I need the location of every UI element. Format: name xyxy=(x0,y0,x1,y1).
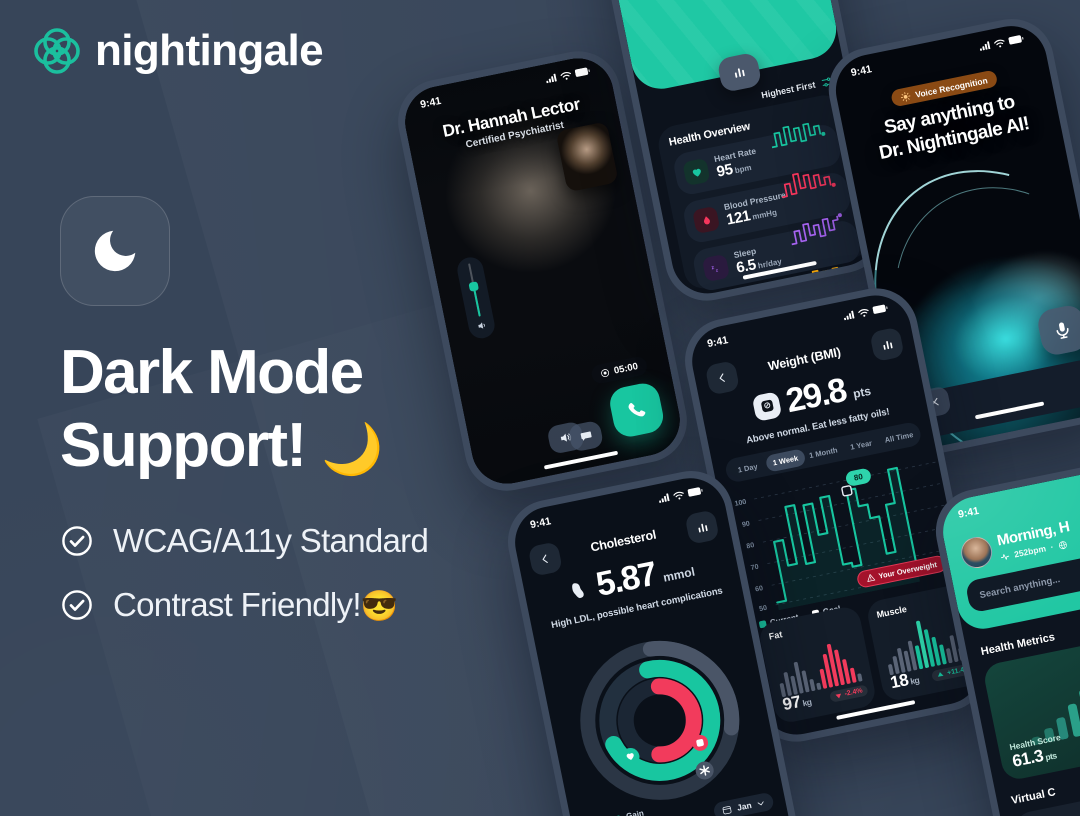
status-icons xyxy=(545,66,591,84)
sunglasses-emoji: 😎 xyxy=(361,590,398,623)
cholesterol-ring-chart xyxy=(563,624,756,816)
battery-icon xyxy=(872,304,888,315)
moon-icon xyxy=(88,224,142,278)
svg-text:80: 80 xyxy=(746,542,755,550)
cholesterol-value: 5.87 xyxy=(593,555,659,605)
score-unit: pts xyxy=(1044,750,1057,762)
microphone-icon xyxy=(1051,318,1075,342)
month-label: Jan xyxy=(736,800,752,813)
metric-unit: mmHg xyxy=(751,208,777,222)
wifi-icon xyxy=(560,70,573,81)
list-item: Contrast Friendly!😎 xyxy=(60,586,428,624)
status-time: 9:41 xyxy=(706,334,729,350)
blood-drop-icon xyxy=(692,206,720,234)
status-time: 9:41 xyxy=(529,515,552,531)
tab-1-week[interactable]: 1 Week xyxy=(765,448,806,472)
badge-label: Voice Recognition xyxy=(914,75,988,99)
metric-unit: bpm xyxy=(734,163,752,175)
status-icons xyxy=(979,34,1025,52)
moon-emoji: 🌙 xyxy=(321,421,383,477)
battery-icon xyxy=(687,486,703,497)
calendar-icon xyxy=(721,804,733,816)
kidney-icon xyxy=(566,576,592,602)
search-placeholder: Search anything... xyxy=(979,574,1061,601)
arrow-up-icon xyxy=(937,671,945,679)
message-icon xyxy=(578,429,593,444)
screen-home-metrics: 9:41 Morning, H 252bpm · Search anything… xyxy=(937,462,1080,816)
clover-cross-icon xyxy=(32,26,82,76)
card-value: 18kg xyxy=(889,668,921,693)
svg-text:60: 60 xyxy=(755,585,764,593)
muscle-unit: kg xyxy=(909,675,920,687)
status-icons xyxy=(843,303,889,321)
headline-line-2: Support! xyxy=(60,411,305,480)
call-timer-value: 05:00 xyxy=(613,361,639,377)
fat-card[interactable]: Fat xyxy=(757,605,877,725)
signal-icon xyxy=(843,310,855,320)
muscle-value: 18 xyxy=(889,670,910,692)
pulse-icon xyxy=(1000,551,1011,562)
dot-separator: · xyxy=(1050,542,1055,552)
svg-text:50: 50 xyxy=(759,605,768,613)
svg-text:100: 100 xyxy=(734,499,747,508)
feature-label-text: Contrast Friendly! xyxy=(113,586,361,623)
wifi-icon xyxy=(993,38,1006,49)
sparkle-icon xyxy=(900,90,912,102)
dark-mode-tile xyxy=(60,196,170,306)
heart-icon xyxy=(682,158,710,186)
battery-icon xyxy=(1008,34,1024,45)
check-circle-icon xyxy=(60,524,94,558)
fat-delta-value: -2.4% xyxy=(844,687,863,698)
tab-1-day[interactable]: 1 Day xyxy=(727,456,768,480)
headline-line-1: Dark Mode xyxy=(60,338,363,407)
status-time: 9:41 xyxy=(957,505,980,521)
tab-1-year[interactable]: 1 Year xyxy=(840,432,881,456)
metric-value: 95 xyxy=(715,161,734,181)
tab-all-time[interactable]: All Time xyxy=(878,425,919,449)
feature-label: Contrast Friendly!😎 xyxy=(113,586,397,624)
svg-text:90: 90 xyxy=(741,520,750,528)
section-title: Virtual C xyxy=(1010,786,1057,807)
metric-value: 121 xyxy=(725,207,752,228)
phone-icon xyxy=(624,397,650,423)
metric-label: Calorie xyxy=(743,288,797,300)
signal-icon xyxy=(979,41,991,51)
feature-list: WCAG/A11y Standard Contrast Friendly!😎 xyxy=(60,522,428,624)
svg-text:z: z xyxy=(710,264,714,270)
warning-triangle-icon xyxy=(865,573,876,584)
fat-unit: kg xyxy=(802,697,813,709)
feature-label: WCAG/A11y Standard xyxy=(113,522,428,560)
bar-chart-icon xyxy=(731,64,748,81)
month-selector[interactable]: Jan xyxy=(713,792,775,816)
list-item: WCAG/A11y Standard xyxy=(60,522,428,560)
tooltip-value: 80 xyxy=(853,472,864,483)
chevron-down-icon xyxy=(755,798,766,809)
fat-value: 97 xyxy=(781,692,802,714)
svg-text:70: 70 xyxy=(750,564,759,572)
wifi-icon xyxy=(672,490,685,501)
battery-icon xyxy=(574,67,590,78)
globe-icon xyxy=(1057,539,1068,550)
svg-text:z: z xyxy=(715,267,718,272)
cholesterol-unit: mmol xyxy=(662,565,696,585)
status-icons xyxy=(658,486,704,504)
page-title: Dark Mode Support! 🌙 xyxy=(60,336,500,482)
card-value: 97kg xyxy=(781,690,813,715)
home-indicator xyxy=(975,402,1044,420)
brand-lockup: nightingale xyxy=(32,26,323,76)
check-circle-icon xyxy=(60,588,94,622)
signal-icon xyxy=(545,73,557,83)
bmi-value: 29.8 xyxy=(783,371,849,421)
tab-1-month[interactable]: 1 Month xyxy=(803,440,844,464)
arrow-down-icon xyxy=(834,692,842,700)
brand-name: nightingale xyxy=(95,29,323,73)
bmi-unit: pts xyxy=(852,384,872,401)
sleep-zzz-icon: zz xyxy=(702,254,730,282)
record-icon xyxy=(599,368,610,379)
health-score-bar-chart xyxy=(1013,638,1080,746)
scale-icon xyxy=(752,391,783,422)
signal-icon xyxy=(658,493,670,503)
wifi-icon xyxy=(857,307,870,318)
status-time: 9:41 xyxy=(850,63,873,79)
marketing-panel: nightingale Dark Mode Support! 🌙 WCAG/A1… xyxy=(0,0,520,816)
fat-delta: -2.4% xyxy=(829,684,869,702)
